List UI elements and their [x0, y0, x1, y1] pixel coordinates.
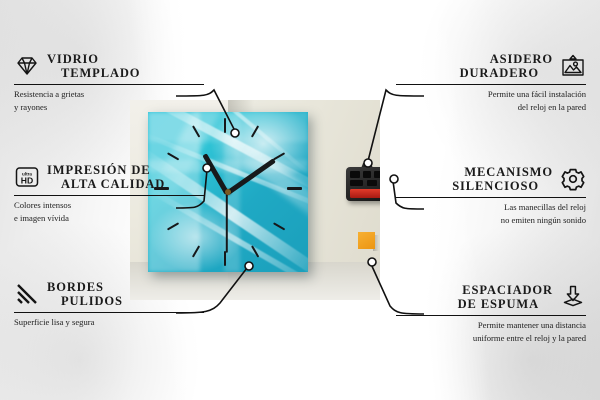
feature-divider — [14, 312, 204, 313]
feature-title-line2: DE ESPUMA — [458, 297, 539, 311]
movement-detail — [363, 171, 371, 178]
movement-detail — [350, 180, 363, 186]
clock-movement — [346, 163, 380, 201]
feature-title-line2: PULIDOS — [61, 294, 123, 308]
feature-title-line2: DURADERO — [460, 66, 539, 80]
feature-title-line2: ALTA CALIDAD — [61, 177, 165, 191]
feature-title-line1: VIDRIO — [47, 52, 140, 66]
feature-description: Colores intensos e imagen vívida — [14, 199, 204, 223]
feature-title-line1: IMPRESIÓN DE — [47, 163, 165, 177]
feature-mecanismo-silencioso: MECANISMO SILENCIOSO Las manecillas del … — [396, 165, 586, 226]
feature-divider — [396, 315, 586, 316]
feature-description: Las manecillas del reloj no emiten ningú… — [396, 201, 586, 225]
feature-title-line1: ASIDERO — [460, 52, 553, 66]
feature-bordes-pulidos: BORDES PULIDOS Superficie lisa y segura — [14, 280, 204, 329]
foam-spacer — [358, 232, 375, 249]
feature-description: Resistencia a grietas y rayones — [14, 88, 204, 112]
feature-divider — [396, 84, 586, 85]
hanging-picture-frame-icon — [560, 54, 586, 78]
feature-espaciador-de-espuma: ESPACIADOR DE ESPUMA Permite mantener un… — [396, 283, 586, 344]
movement-detail — [350, 171, 360, 178]
movement-detail — [367, 180, 377, 186]
clock-hands-hub — [225, 189, 231, 195]
feature-description: Permite una fácil instalación del reloj … — [396, 88, 586, 112]
gear-icon — [560, 167, 586, 191]
feature-divider — [14, 195, 204, 196]
second-hand — [226, 193, 228, 253]
diagonal-lines-icon — [14, 282, 40, 306]
battery — [350, 189, 380, 198]
feature-divider — [396, 197, 586, 198]
feature-title-line2: SILENCIOSO — [452, 179, 539, 193]
arrow-onto-pad-icon — [560, 285, 586, 309]
feature-title-line1: ESPACIADOR — [458, 283, 553, 297]
diamond-icon — [14, 54, 40, 78]
feature-divider — [14, 84, 204, 85]
feature-title-line2: TEMPLADO — [61, 66, 140, 80]
feature-title-line1: MECANISMO — [452, 165, 553, 179]
glass-reflection — [148, 112, 308, 142]
infographic-canvas: VIDRIO TEMPLADO Resistencia a grietas y … — [0, 0, 600, 400]
feature-description: Permite mantener una distancia uniforme … — [396, 319, 586, 343]
feature-impresion-alta-calidad: ultra HD IMPRESIÓN DE ALTA CALIDAD Color… — [14, 163, 204, 224]
feature-title-line1: BORDES — [47, 280, 123, 294]
hour-tick — [224, 118, 226, 133]
movement-body — [346, 167, 380, 201]
svg-text:HD: HD — [21, 175, 33, 185]
hour-tick — [287, 187, 302, 190]
ultra-hd-badge-icon: ultra HD — [14, 165, 40, 189]
feature-vidrio-templado: VIDRIO TEMPLADO Resistencia a grietas y … — [14, 52, 204, 113]
feature-description: Superficie lisa y segura — [14, 316, 204, 328]
feature-asidero-duradero: ASIDERO DURADERO Permite una fácil insta… — [396, 52, 586, 113]
hour-tick — [224, 251, 226, 266]
movement-detail — [374, 171, 380, 178]
